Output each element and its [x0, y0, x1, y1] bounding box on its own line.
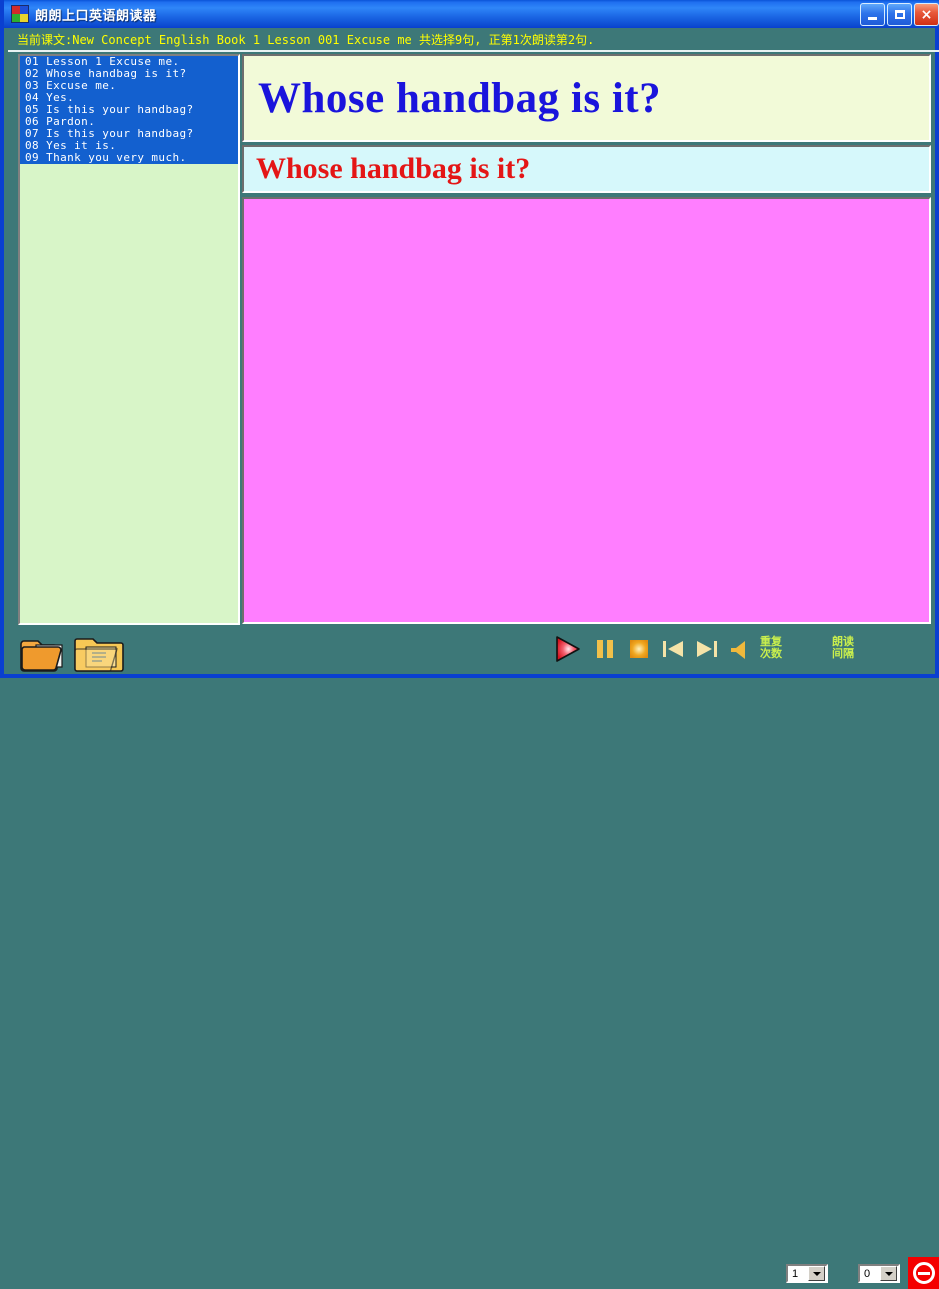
- repeat-count-select[interactable]: 1: [786, 1264, 828, 1283]
- current-lesson-status: 当前课文:New Concept English Book 1 Lesson 0…: [8, 28, 939, 51]
- title-bar: 朗朗上口英语朗读器 ×: [4, 0, 939, 28]
- repeat-count-label-line2: 次数: [758, 648, 784, 660]
- repeat-count-label: 重复 次数: [758, 636, 784, 660]
- maximize-icon: [895, 10, 905, 19]
- stop-button[interactable]: [624, 634, 654, 664]
- app-grid-icon: [11, 5, 29, 23]
- status-divider: [8, 50, 939, 52]
- close-icon: ×: [921, 8, 933, 22]
- player-toolbar: 重复 次数 1 朗读 间隔 0: [8, 626, 939, 674]
- reading-interval-value: 0: [860, 1268, 880, 1280]
- previous-button[interactable]: [658, 634, 688, 664]
- maximize-button[interactable]: [887, 3, 912, 26]
- open-lesson-folder-icon: [74, 629, 128, 673]
- caption-button-group: ×: [860, 3, 939, 26]
- minimize-button[interactable]: [860, 3, 885, 26]
- english-sentence-text: Whose handbag is it?: [244, 74, 661, 123]
- chevron-down-icon[interactable]: [880, 1266, 897, 1281]
- previous-track-icon: [658, 634, 688, 664]
- pause-icon: [590, 634, 620, 664]
- application-window: 朗朗上口英语朗读器 × 当前课文:New Concept English Boo…: [0, 0, 939, 678]
- reading-interval-label: 朗读 间隔: [830, 636, 856, 660]
- play-icon: [552, 634, 582, 664]
- next-button[interactable]: [692, 634, 722, 664]
- exit-button[interactable]: [908, 1257, 939, 1289]
- list-item[interactable]: 09 Thank you very much.: [20, 152, 238, 164]
- volume-button[interactable]: [727, 634, 757, 664]
- media-display-panel: [242, 197, 931, 624]
- reading-interval-label-line2: 间隔: [830, 648, 856, 660]
- open-folder-button[interactable]: [20, 629, 74, 673]
- open-lesson-folder-button[interactable]: [74, 629, 128, 673]
- pause-button[interactable]: [590, 634, 620, 664]
- chevron-down-icon[interactable]: [808, 1266, 825, 1281]
- exit-icon: [913, 1262, 935, 1284]
- close-button[interactable]: ×: [914, 3, 939, 26]
- minimize-icon: [868, 17, 877, 20]
- translation-panel: Whose handbag is it?: [242, 145, 931, 193]
- play-button[interactable]: [552, 634, 582, 664]
- translation-text: Whose handbag is it?: [244, 152, 530, 186]
- reading-interval-select[interactable]: 0: [858, 1264, 900, 1283]
- repeat-count-value: 1: [788, 1268, 808, 1280]
- english-sentence-panel: Whose handbag is it?: [242, 54, 931, 142]
- open-folder-icon: [20, 629, 74, 673]
- window-title: 朗朗上口英语朗读器: [35, 5, 157, 24]
- stop-icon: [624, 634, 654, 664]
- sentence-list[interactable]: 01 Lesson 1 Excuse me. 02 Whose handbag …: [18, 54, 240, 625]
- speaker-icon: [727, 634, 757, 664]
- next-track-icon: [692, 634, 722, 664]
